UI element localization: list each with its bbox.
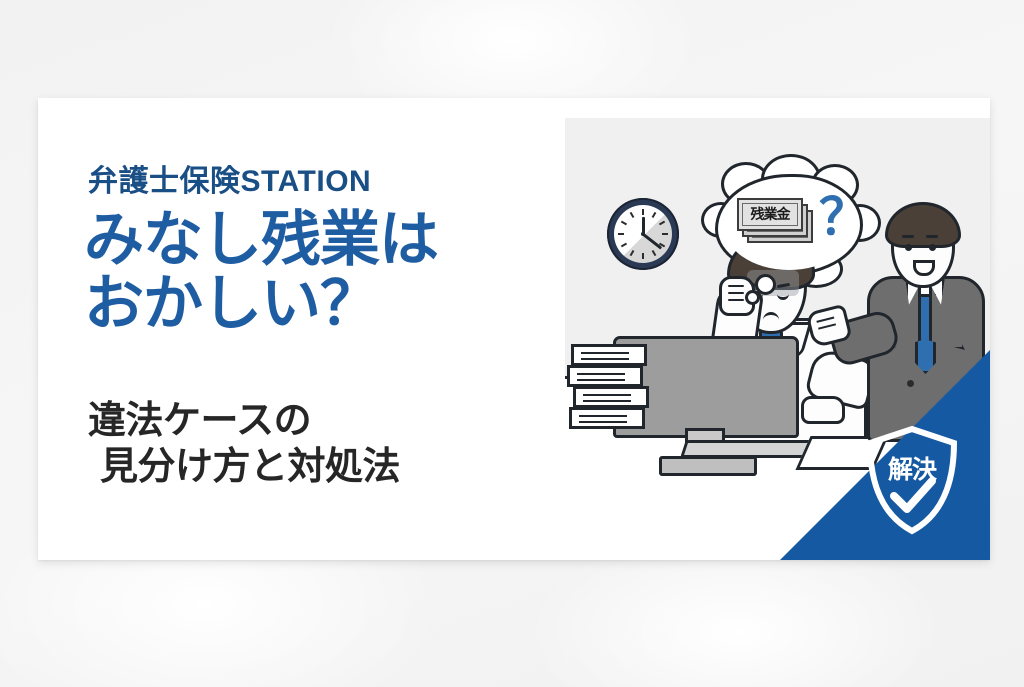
- text-column: 弁護士保険STATION みなし残業は おかしい？ 違法ケースの 見分け方と対処…: [88, 98, 558, 560]
- shield-label: 解決: [864, 450, 960, 486]
- question-mark-icon: ？: [819, 192, 869, 242]
- wall-clock-icon: [607, 198, 679, 270]
- bubble-tail-small: [745, 290, 760, 305]
- brand-title: 弁護士保険STATION: [88, 156, 371, 200]
- thumbnail-card: 弁護士保険STATION みなし残業は おかしい？ 違法ケースの 見分け方と対処…: [38, 98, 990, 560]
- headline-line-1: みなし残業は: [84, 208, 564, 272]
- headline: みなし残業は おかしい？: [84, 208, 564, 336]
- clock-face: [614, 205, 672, 263]
- clock-minute-hand: [642, 233, 662, 249]
- subheadline-line-1: 違法ケースの: [88, 398, 558, 444]
- advisor-hair: [885, 202, 961, 248]
- page-background: 弁護士保険STATION みなし残業は おかしい？ 違法ケースの 見分け方と対処…: [0, 0, 1024, 687]
- subheadline-line-2: 見分け方と対処法: [88, 444, 558, 490]
- resolution-shield-badge: 解決: [864, 424, 960, 536]
- subheadline: 違法ケースの 見分け方と対処法: [88, 398, 558, 491]
- banknote-stack-icon: 残業金: [737, 198, 811, 242]
- headline-line-2: おかしい？: [84, 272, 564, 336]
- banknote-label: 残業金: [737, 198, 803, 231]
